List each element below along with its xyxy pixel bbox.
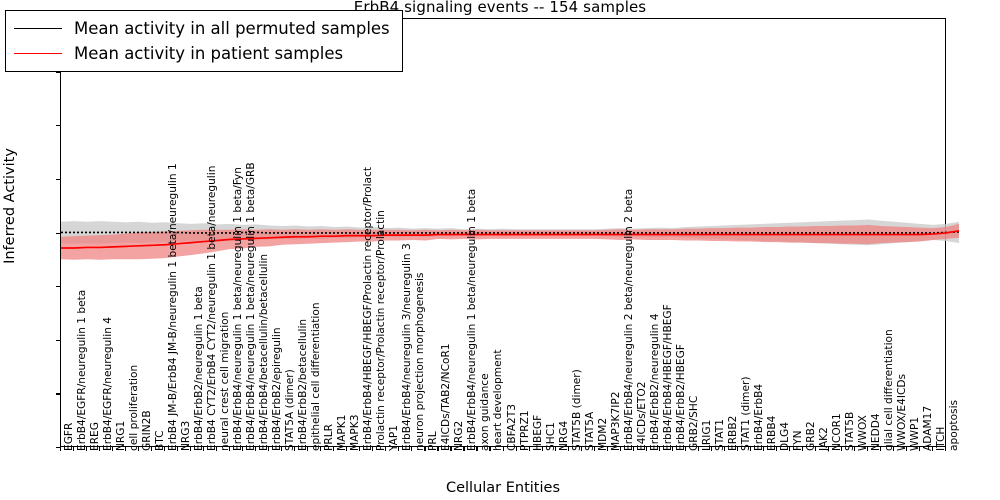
x-tick-label: ErbB4/ErbB2/neuregulin 4 — [650, 314, 661, 451]
x-tick-mark — [99, 447, 100, 451]
y-tick-mark — [56, 125, 61, 126]
y-tick-mark — [56, 393, 61, 394]
x-tick-label: WWOX — [858, 415, 869, 451]
x-tick-mark — [437, 447, 438, 451]
x-tick-label: E4ICDs/TAB2/NCoR1 — [441, 343, 452, 451]
x-tick-label: HBEGF — [533, 415, 544, 451]
x-tick-label: Prolactin receptor/Prolactin receptor/Pr… — [376, 210, 387, 451]
x-tick-mark — [177, 447, 178, 451]
x-tick-mark — [659, 447, 660, 451]
x-tick-mark — [516, 447, 517, 451]
x-tick-mark — [802, 447, 803, 451]
x-tick-mark — [463, 447, 464, 451]
x-tick-label: ErbB4/ErbB2/HBEGF — [676, 344, 687, 451]
x-tick-mark — [164, 447, 165, 451]
y-tick-mark — [56, 286, 61, 287]
chart-figure: ErbB4 signaling events -- 154 samples In… — [0, 0, 1000, 500]
x-tick-label: neuron projection morphogenesis — [415, 273, 426, 451]
x-tick-mark — [346, 447, 347, 451]
x-tick-mark — [112, 447, 113, 451]
x-tick-label: CBFA2T3 — [507, 404, 518, 451]
x-axis-label: Cellular Entities — [60, 480, 946, 496]
x-tick-mark — [698, 447, 699, 451]
x-tick-label: NCOR1 — [832, 413, 843, 451]
x-tick-label: ERBB2 — [728, 416, 739, 451]
x-tick-mark — [555, 447, 556, 451]
x-tick-label: ADAM17 — [923, 406, 934, 451]
x-tick-mark — [424, 447, 425, 451]
legend-label-permuted: Mean activity in all permuted samples — [74, 19, 390, 38]
x-tick-mark — [60, 447, 61, 451]
x-tick-label: STAT5A (dimer) — [285, 369, 296, 451]
x-tick-label: ErbB4/ErbB4/neuregulin 1 beta/neuregulin… — [246, 162, 257, 451]
x-tick-mark — [294, 447, 295, 451]
x-tick-mark — [151, 447, 152, 451]
x-tick-label: epithelial cell differentiation — [311, 302, 322, 451]
x-tick-mark — [945, 447, 946, 451]
x-tick-mark — [620, 447, 621, 451]
x-tick-mark — [763, 447, 764, 451]
x-tick-mark — [372, 447, 373, 451]
x-tick-mark — [880, 447, 881, 451]
x-tick-label: STAT5B — [845, 412, 856, 451]
x-tick-label: STAT5A — [585, 412, 596, 451]
x-tick-mark — [568, 447, 569, 451]
x-tick-mark — [854, 447, 855, 451]
x-tick-label: NEDD4 — [871, 413, 882, 451]
x-tick-label: heart development — [493, 350, 504, 451]
x-tick-mark — [672, 447, 673, 451]
x-tick-mark — [594, 447, 595, 451]
x-tick-mark — [255, 447, 256, 451]
x-tick-label: ErbB4 CYT2/ErbB4 CYT2/neuregulin 1 beta/… — [207, 166, 218, 451]
x-tick-label: ErbB4/ErbB4/neuregulin 1 beta/neuregulin… — [467, 189, 478, 451]
x-tick-mark — [450, 447, 451, 451]
x-tick-label: MAPK1 — [337, 415, 348, 451]
x-tick-mark — [542, 447, 543, 451]
x-tick-mark — [750, 447, 751, 451]
y-tick-mark — [56, 340, 61, 341]
x-tick-mark — [281, 447, 282, 451]
x-tick-mark — [268, 447, 269, 451]
x-tick-mark — [867, 447, 868, 451]
x-tick-label: MAPK3 — [350, 415, 361, 451]
x-tick-label: ErbB4 JM-B/ErbB4 JM-B/neuregulin 1 beta/… — [168, 163, 179, 451]
x-tick-label: ErbB4/ErbB4/neuregulin 1 beta/neuregulin… — [233, 167, 244, 451]
x-tick-mark — [307, 447, 308, 451]
x-tick-label: ErbB4/ErbB2/betacellulin — [298, 319, 309, 451]
x-tick-mark — [841, 447, 842, 451]
x-tick-mark — [138, 447, 139, 451]
y-tick-mark — [56, 233, 61, 234]
legend: Mean activity in all permuted samples Me… — [5, 10, 403, 72]
x-tick-mark — [86, 447, 87, 451]
x-tick-label: ErbB4/ErbB4 — [754, 384, 765, 451]
x-tick-mark — [633, 447, 634, 451]
x-tick-mark — [919, 447, 920, 451]
x-tick-label: WWOX/E4ICDs — [897, 374, 908, 451]
x-tick-label: GRIN2B — [142, 410, 153, 451]
x-tick-label: STAT1 (dimer) — [741, 376, 752, 451]
x-tick-label: ErbB4/ErbB4/HBEGF/HBEGF/Prolactin recept… — [363, 167, 374, 451]
x-tick-label: ErbB4/ErbB2/neuregulin 1 beta — [194, 286, 205, 451]
x-tick-mark — [398, 447, 399, 451]
x-tick-mark — [711, 447, 712, 451]
legend-swatch-permuted — [14, 28, 62, 29]
x-tick-mark — [73, 447, 74, 451]
x-tick-label: E4ICDs/ETO2 — [637, 382, 648, 451]
x-tick-label: ErbB4/EGFR/neuregulin 4 — [103, 317, 114, 451]
x-tick-label: STAT5B (dimer) — [572, 369, 583, 451]
x-tick-mark — [581, 447, 582, 451]
x-tick-mark — [229, 447, 230, 451]
x-tick-mark — [737, 447, 738, 451]
y-tick-mark — [56, 179, 61, 180]
x-tick-mark — [489, 447, 490, 451]
x-tick-label: glial cell differentiation — [884, 329, 895, 451]
x-tick-label: ErbB4/ErbB4/neuregulin 2 beta/neuregulin… — [624, 189, 635, 451]
x-tick-mark — [906, 447, 907, 451]
x-tick-mark — [529, 447, 530, 451]
x-tick-label: neural crest cell migration — [220, 312, 231, 451]
x-tick-mark — [646, 447, 647, 451]
x-tick-mark — [242, 447, 243, 451]
x-tick-mark — [607, 447, 608, 451]
x-tick-mark — [203, 447, 204, 451]
x-tick-label: axon guidance — [480, 373, 491, 451]
x-tick-label: GRB2/SHC — [689, 396, 700, 451]
x-tick-label: apoptosis — [949, 400, 960, 451]
x-tick-label: cell proliferation — [129, 365, 140, 451]
x-tick-mark — [476, 447, 477, 451]
x-tick-mark — [724, 447, 725, 451]
legend-item-permuted: Mean activity in all permuted samples — [14, 16, 390, 41]
x-tick-mark — [125, 447, 126, 451]
legend-swatch-patient — [14, 53, 62, 54]
x-tick-mark — [828, 447, 829, 451]
x-tick-mark — [503, 447, 504, 451]
x-tick-mark — [893, 447, 894, 451]
x-tick-label: ErbB4/EGFR/neuregulin 1 beta — [77, 290, 88, 451]
x-tick-label: ERBB4 — [767, 416, 778, 451]
x-tick-mark — [932, 447, 933, 451]
legend-label-patient: Mean activity in patient samples — [74, 44, 343, 63]
x-tick-mark — [411, 447, 412, 451]
x-tick-label: ErbB4/ErbB4/neuregulin 3/neuregulin 3 — [402, 243, 413, 451]
x-tick-mark — [333, 447, 334, 451]
x-tick-label: ErbB4/ErbB4/HBEGF/HBEGF — [663, 304, 674, 451]
x-tick-label: ErbB4/ErbB2/epiregulin — [272, 327, 283, 451]
x-tick-label: ErbB4/ErbB4/betacellulin/betacellulin — [259, 254, 270, 451]
x-tick-mark — [190, 447, 191, 451]
x-tick-mark — [685, 447, 686, 451]
x-tick-label: PTPRZ1 — [520, 410, 531, 451]
x-tick-label: WWP1 — [910, 417, 921, 451]
x-tick-mark — [216, 447, 217, 451]
x-tick-label: MAP3K7IP2 — [611, 392, 622, 451]
x-tick-mark — [815, 447, 816, 451]
legend-item-patient: Mean activity in patient samples — [14, 41, 390, 66]
x-tick-mark — [776, 447, 777, 451]
x-tick-mark — [320, 447, 321, 451]
x-tick-mark — [385, 447, 386, 451]
x-tick-mark — [359, 447, 360, 451]
x-tick-mark — [789, 447, 790, 451]
